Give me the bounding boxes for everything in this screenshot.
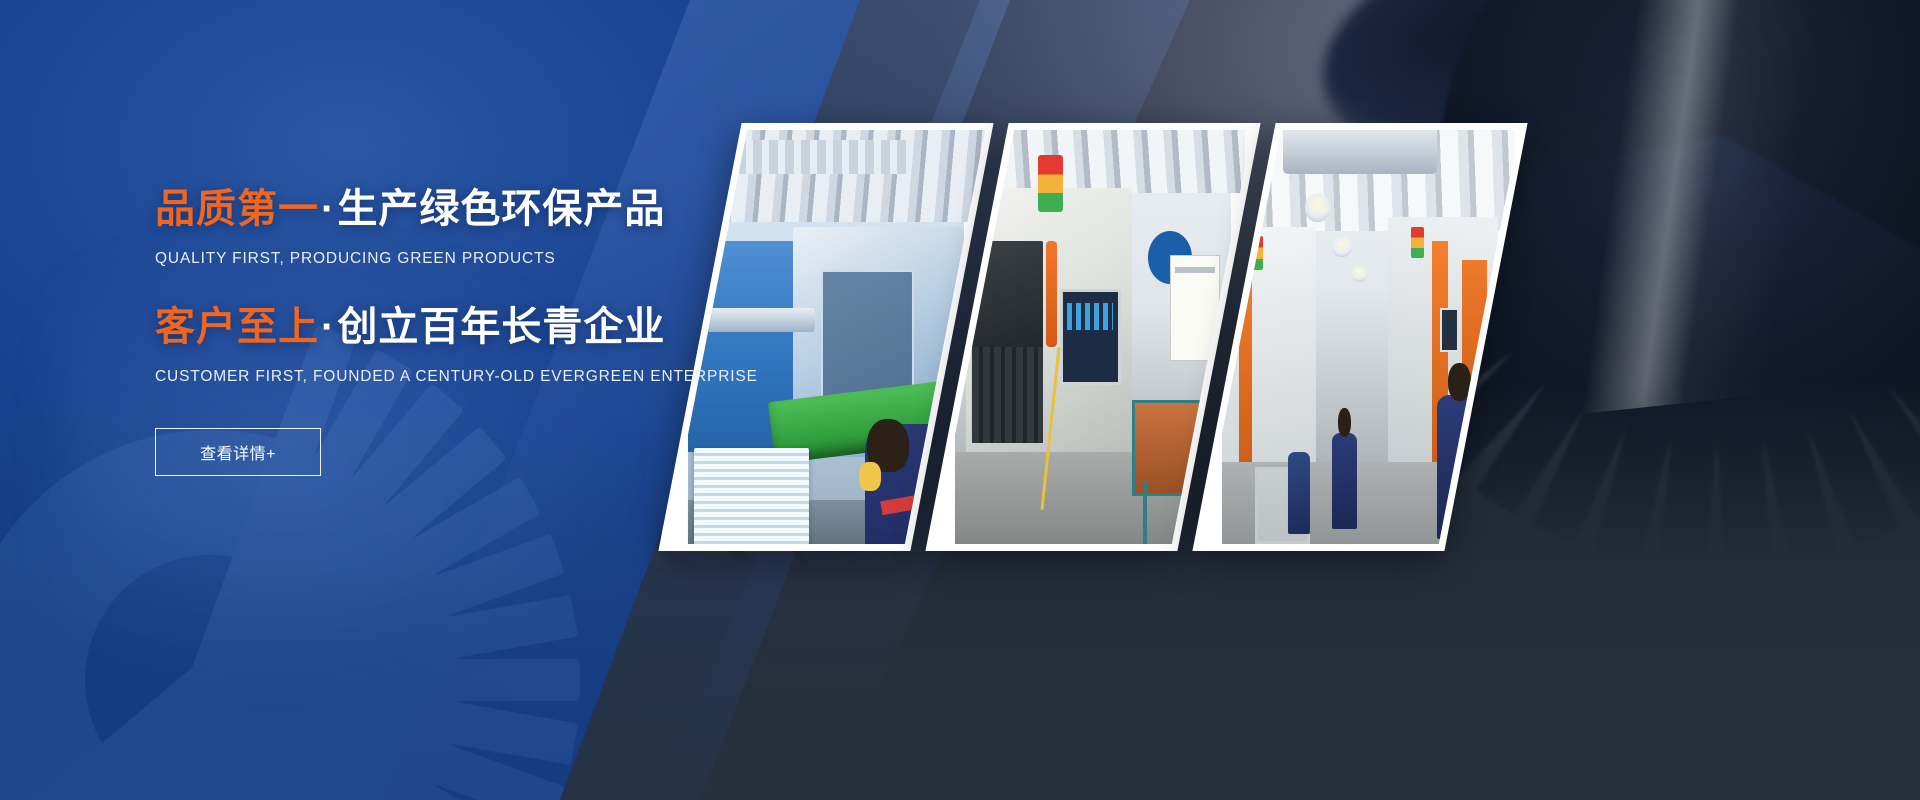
- view-details-button[interactable]: 查看详情+: [155, 428, 321, 476]
- subtitle-secondary: CUSTOMER FIRST, FOUNDED A CENTURY-OLD EV…: [155, 368, 775, 386]
- headline-primary-separator: ·: [319, 187, 337, 231]
- headline-primary: 品质第一·生产绿色环保产品: [155, 186, 775, 232]
- headline-secondary-rest: 创立百年长青企业: [337, 305, 665, 349]
- photo-frame: [1201, 130, 1519, 544]
- photo-cnc-workshop: [955, 130, 1231, 544]
- photo-caption-1: Injection moulding production line with …: [667, 544, 668, 545]
- photo-caption-2: CNC machining centre workshop: [934, 544, 935, 545]
- headline-secondary-separator: ·: [319, 305, 337, 349]
- headline-secondary-accent: 客户至上: [155, 305, 319, 349]
- photo-workshop-corridor: [1222, 130, 1498, 544]
- photo-frame: [934, 130, 1252, 544]
- subtitle-primary: QUALITY FIRST, PRODUCING GREEN PRODUCTS: [155, 250, 775, 268]
- headline-secondary: 客户至上·创立百年长青企业: [155, 304, 775, 350]
- photo-caption-3: Workshop corridor with staff at machines: [1201, 544, 1202, 545]
- headline-primary-accent: 品质第一: [155, 187, 319, 231]
- headline-primary-rest: 生产绿色环保产品: [337, 187, 665, 231]
- hero-copy-block: 品质第一·生产绿色环保产品 QUALITY FIRST, PRODUCING G…: [155, 186, 775, 476]
- hero-banner: Injection moulding production line with …: [0, 0, 1920, 800]
